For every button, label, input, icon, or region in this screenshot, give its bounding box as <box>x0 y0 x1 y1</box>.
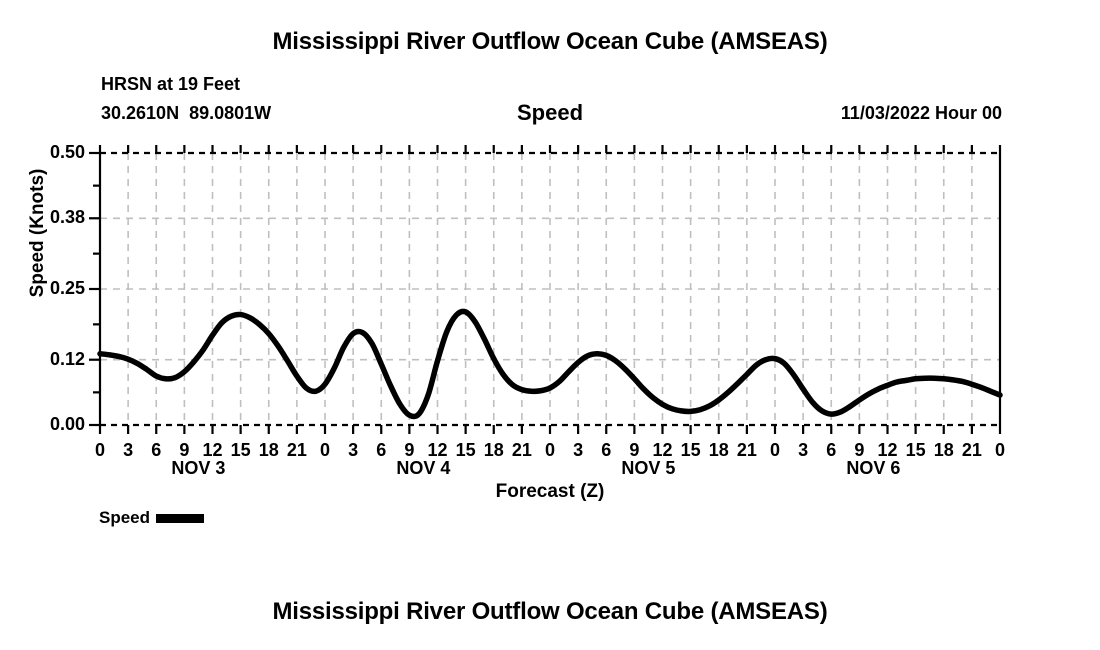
y-tick-label: 0.50 <box>15 142 85 163</box>
x-axis-day-label: NOV 3 <box>128 458 268 479</box>
x-axis-day-label: NOV 5 <box>578 458 718 479</box>
footer-title: Mississippi River Outflow Ocean Cube (AM… <box>0 598 1100 626</box>
y-tick-label: 0.25 <box>15 278 85 299</box>
y-tick-label: 0.00 <box>15 414 85 435</box>
y-axis-title: Speed (Knots) <box>27 133 49 333</box>
y-tick-label: 0.12 <box>15 349 85 370</box>
chart-page: Mississippi River Outflow Ocean Cube (AM… <box>0 0 1100 650</box>
x-axis-day-label: NOV 6 <box>803 458 943 479</box>
chart-legend: Speed <box>99 508 204 528</box>
y-tick-label: 0.38 <box>15 207 85 228</box>
x-axis-title: Forecast (Z) <box>0 481 1100 503</box>
speed-line-chart <box>0 0 1100 650</box>
x-tick-label: 0 <box>980 440 1020 461</box>
plot-area: Speed (Knots) Forecast (Z) 0.000.120.250… <box>0 0 1100 650</box>
legend-label-speed: Speed <box>99 508 150 528</box>
legend-swatch-speed <box>156 514 204 523</box>
x-axis-day-label: NOV 4 <box>353 458 493 479</box>
